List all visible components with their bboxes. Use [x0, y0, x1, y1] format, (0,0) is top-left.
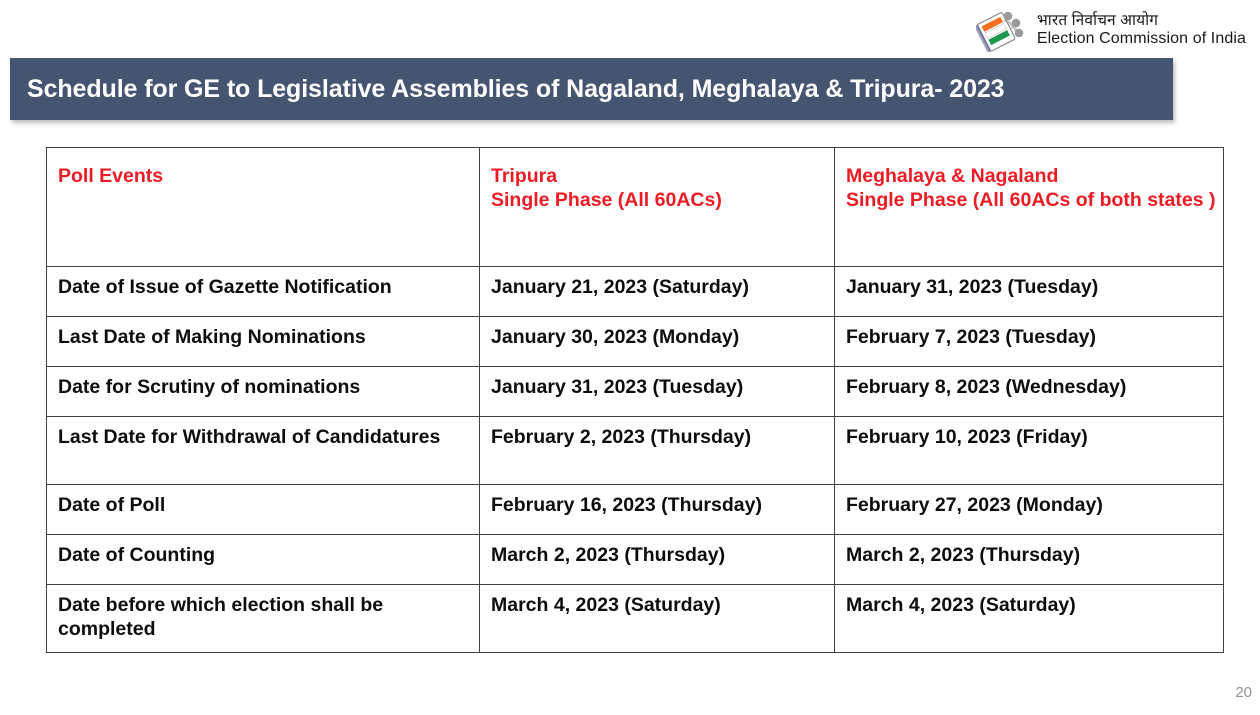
- eci-logo-text: भारत निर्वाचन आयोग Election Commission o…: [1037, 12, 1246, 47]
- table-row: Date of Issue of Gazette Notification Ja…: [47, 267, 1224, 317]
- table-row: Date of Counting March 2, 2023 (Thursday…: [47, 535, 1224, 585]
- cell-tripura: January 30, 2023 (Monday): [480, 317, 835, 367]
- cell-meghalaya-nagaland: February 10, 2023 (Friday): [835, 417, 1224, 485]
- cell-event: Date before which election shall be comp…: [47, 585, 480, 653]
- eci-ballot-logo-icon: [976, 8, 1028, 52]
- cell-meghalaya-nagaland: February 27, 2023 (Monday): [835, 485, 1224, 535]
- schedule-table: Poll Events Tripura Single Phase (All 60…: [46, 147, 1224, 653]
- cell-event: Last Date of Making Nominations: [47, 317, 480, 367]
- cell-tripura: January 21, 2023 (Saturday): [480, 267, 835, 317]
- cell-event: Last Date for Withdrawal of Candidatures: [47, 417, 480, 485]
- cell-event: Date of Counting: [47, 535, 480, 585]
- header-megh-nag-line2: Single Phase (All 60ACs of both states ): [846, 189, 1223, 213]
- cell-meghalaya-nagaland: March 4, 2023 (Saturday): [835, 585, 1224, 653]
- eci-logo-hindi: भारत निर्वाचन आयोग: [1037, 12, 1246, 29]
- header-cell-poll-events: Poll Events: [47, 148, 480, 267]
- eci-logo-english: Election Commission of India: [1037, 30, 1246, 48]
- cell-meghalaya-nagaland: January 31, 2023 (Tuesday): [835, 267, 1224, 317]
- header-cell-tripura: Tripura Single Phase (All 60ACs): [480, 148, 835, 267]
- cell-tripura: March 2, 2023 (Thursday): [480, 535, 835, 585]
- header-cell-meghalaya-nagaland: Meghalaya & Nagaland Single Phase (All 6…: [835, 148, 1224, 267]
- slide-canvas: भारत निर्वाचन आयोग Election Commission o…: [0, 0, 1260, 715]
- table-row: Date before which election shall be comp…: [47, 585, 1224, 653]
- table-row: Date for Scrutiny of nominations January…: [47, 367, 1224, 417]
- eci-logo: भारत निर्वाचन आयोग Election Commission o…: [976, 8, 1246, 52]
- page-title: Schedule for GE to Legislative Assemblie…: [10, 75, 1005, 104]
- table-header-row: Poll Events Tripura Single Phase (All 60…: [47, 148, 1224, 267]
- header-megh-nag-line1: Meghalaya & Nagaland: [846, 165, 1223, 189]
- cell-tripura: January 31, 2023 (Tuesday): [480, 367, 835, 417]
- cell-event: Date of Poll: [47, 485, 480, 535]
- cell-tripura: February 2, 2023 (Thursday): [480, 417, 835, 485]
- cell-meghalaya-nagaland: February 8, 2023 (Wednesday): [835, 367, 1224, 417]
- header-tripura-line1: Tripura: [491, 165, 834, 189]
- cell-tripura: February 16, 2023 (Thursday): [480, 485, 835, 535]
- header-tripura-line2: Single Phase (All 60ACs): [491, 189, 834, 213]
- page-number: 20: [1235, 684, 1252, 701]
- header-poll-events-label: Poll Events: [58, 165, 479, 189]
- cell-tripura: March 4, 2023 (Saturday): [480, 585, 835, 653]
- cell-meghalaya-nagaland: February 7, 2023 (Tuesday): [835, 317, 1224, 367]
- title-bar: Schedule for GE to Legislative Assemblie…: [10, 58, 1173, 120]
- cell-event: Date of Issue of Gazette Notification: [47, 267, 480, 317]
- cell-meghalaya-nagaland: March 2, 2023 (Thursday): [835, 535, 1224, 585]
- table-row: Last Date of Making Nominations January …: [47, 317, 1224, 367]
- table-row: Last Date for Withdrawal of Candidatures…: [47, 417, 1224, 485]
- cell-event: Date for Scrutiny of nominations: [47, 367, 480, 417]
- table-row-date-of-poll: Date of Poll February 16, 2023 (Thursday…: [47, 485, 1224, 535]
